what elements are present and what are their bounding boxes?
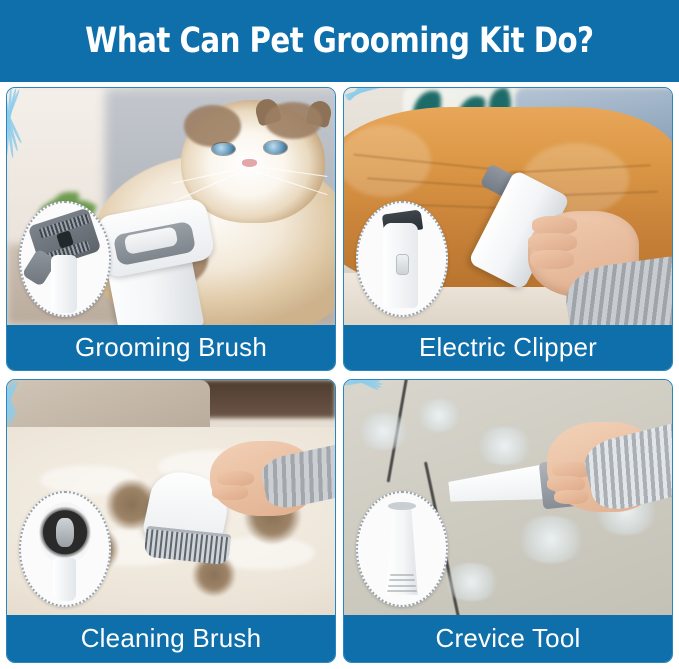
pet-grooming-kit-infographic: What Can Pet Grooming Kit Do? (0, 0, 679, 669)
lint-patch (475, 427, 534, 465)
lint-patch (442, 563, 501, 601)
page-title: What Can Pet Grooming Kit Do? (85, 21, 593, 61)
label-bar-electric-clipper: Electric Clipper (344, 325, 672, 370)
lint-patch (515, 516, 587, 563)
card-label: Cleaning Brush (81, 623, 262, 654)
cleaning-brush-attachment-icon (19, 491, 111, 607)
cat-nose (242, 159, 257, 167)
card-label: Electric Clipper (419, 332, 597, 363)
label-bar-grooming-brush: Grooming Brush (7, 325, 335, 370)
feature-card-grid: Grooming Brush (6, 87, 673, 663)
electric-clipper-attachment-icon (356, 201, 448, 317)
photo-crevice-tool (344, 380, 672, 615)
photo-cleaning-brush (7, 380, 335, 615)
label-bar-crevice-tool: Crevice Tool (344, 615, 672, 662)
header-banner: What Can Pet Grooming Kit Do? (0, 0, 679, 82)
cat-eye (212, 143, 235, 155)
feature-card-cleaning-brush[interactable]: Cleaning Brush (6, 379, 336, 663)
cat-eye (264, 141, 287, 153)
feature-card-electric-clipper[interactable]: Electric Clipper (343, 87, 673, 371)
lint-patch (416, 399, 462, 432)
photo-grooming-brush (7, 88, 335, 325)
photo-electric-clipper (344, 88, 672, 325)
card-label: Grooming Brush (75, 332, 267, 363)
grooming-brush-attachment-icon (19, 201, 111, 317)
lint-patch (357, 413, 409, 451)
label-bar-cleaning-brush: Cleaning Brush (7, 615, 335, 662)
crevice-tool-attachment-icon (356, 491, 448, 607)
feature-card-crevice-tool[interactable]: Crevice Tool (343, 379, 673, 663)
feature-card-grooming-brush[interactable]: Grooming Brush (6, 87, 336, 371)
card-label: Crevice Tool (436, 623, 581, 654)
